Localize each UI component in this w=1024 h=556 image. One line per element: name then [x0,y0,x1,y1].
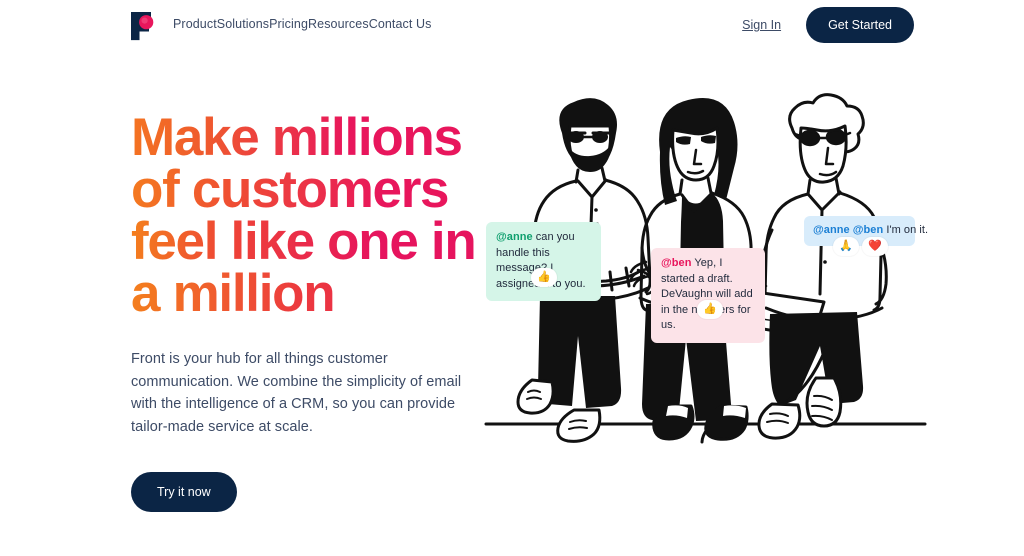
landing-page: Product Solutions Pricing Resources Cont… [0,0,1024,556]
chat-bubble-onit: @anne @ben I'm on it. [804,216,915,246]
try-it-now-button[interactable]: Try it now [131,472,237,512]
mention-anne: @anne [496,231,533,243]
sign-in-link[interactable]: Sign In [742,18,781,32]
headline-line-3: feel like one in [131,216,481,268]
top-navbar: Product Solutions Pricing Resources Cont… [0,0,1024,52]
nav-link-contact-us[interactable]: Contact Us [369,17,432,31]
chat-bubble-anne: @anne can you handle this message? I ass… [486,222,601,301]
reaction-thumbs-up-ben[interactable]: 👍 [697,300,723,319]
folded-hands-emoji: 🙏 [839,241,853,252]
headline-line-1: Make millions [131,112,481,164]
chat-bubble-ben: @ben Yep, I started a draft. DeVaughn wi… [651,248,765,343]
mention-ben: @ben [661,257,691,269]
nav-link-resources[interactable]: Resources [308,17,369,31]
nav-actions: Sign In Get Started [742,7,1024,43]
nav-links: Product Solutions Pricing Resources Cont… [173,17,432,31]
reaction-folded-hands-onit[interactable]: 🙏 [833,237,859,256]
nav-link-product[interactable]: Product [173,17,217,31]
hero-headline: Make millions of customers feel like one… [131,112,481,320]
thumbs-up-emoji: 👍 [537,272,551,283]
heart-emoji: ❤️ [868,241,882,252]
get-started-button[interactable]: Get Started [806,7,914,43]
reaction-thumbs-up-anne[interactable]: 👍 [531,268,557,287]
front-logo-icon[interactable] [129,11,155,41]
nav-link-solutions[interactable]: Solutions [217,17,269,31]
front-f-logo-icon [129,11,155,41]
thumbs-up-emoji: 👍 [703,304,717,315]
mention-anne-ben: @anne @ben [813,224,883,236]
hero-paragraph: Front is your hub for all things custome… [131,348,466,438]
bubble-text-onit: I'm on it. [883,224,928,236]
nav-link-pricing[interactable]: Pricing [269,17,308,31]
headline-line-4: a million [131,268,481,320]
hero-text-column: Make millions of customers feel like one… [131,112,481,512]
figure-curly-person [746,95,886,438]
headline-line-2: of customers [131,164,481,216]
reaction-heart-onit[interactable]: ❤️ [862,237,888,256]
